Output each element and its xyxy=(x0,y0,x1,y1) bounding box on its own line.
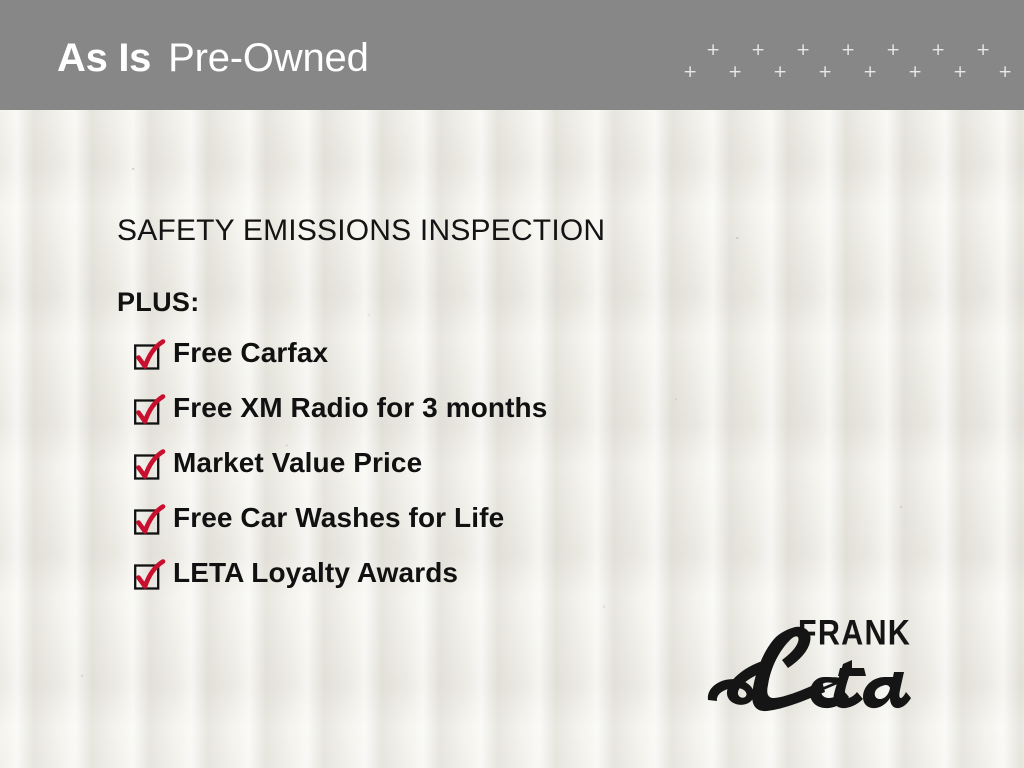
plus-heading: PLUS: xyxy=(117,287,200,318)
plus-icon: + xyxy=(728,64,742,81)
plus-icon: + xyxy=(976,42,990,59)
headline-text: SAFETY EMISSIONS INSPECTION xyxy=(117,214,605,248)
check-list-item-label: LETA Loyalty Awards xyxy=(173,558,458,588)
check-list-item-label: Free XM Radio for 3 months xyxy=(173,393,547,423)
plus-icon: + xyxy=(863,64,877,81)
checked-checkbox-icon xyxy=(134,396,164,426)
plus-icon: + xyxy=(796,42,810,59)
logo-frank-text: FRANK xyxy=(798,614,911,654)
plus-icon: + xyxy=(886,42,900,59)
slide-canvas: As IsPre-Owned +++++++++++++++ SAFETY EM… xyxy=(0,0,1024,768)
checked-checkbox-icon xyxy=(134,506,164,536)
check-list-item-label: Free Carfax xyxy=(173,338,328,368)
frank-leta-logo: FRANK xyxy=(700,608,915,718)
plus-icon: + xyxy=(751,42,765,59)
checked-checkbox-icon xyxy=(134,451,164,481)
checked-checkbox-icon xyxy=(134,341,164,371)
check-list-item: Market Value Price xyxy=(134,451,734,506)
slide-title-light: Pre-Owned xyxy=(168,36,369,80)
slide-title-bold: As Is xyxy=(57,36,151,80)
plus-icon: + xyxy=(953,64,967,81)
plus-icon: + xyxy=(706,42,720,59)
check-list-item: Free Car Washes for Life xyxy=(134,506,734,561)
plus-icon: + xyxy=(931,42,945,59)
check-list-item-label: Market Value Price xyxy=(173,448,422,478)
check-list-item: LETA Loyalty Awards xyxy=(134,561,734,616)
plus-icon: + xyxy=(818,64,832,81)
plus-icon: + xyxy=(683,64,697,81)
plus-icon: + xyxy=(908,64,922,81)
check-list-item: Free Carfax xyxy=(134,341,734,396)
plus-icon: + xyxy=(773,64,787,81)
plus-marks-pattern: +++++++++++++++ xyxy=(672,42,1012,90)
plus-icon: + xyxy=(841,42,855,59)
benefits-check-list: Free CarfaxFree XM Radio for 3 monthsMar… xyxy=(134,341,734,616)
checked-checkbox-icon xyxy=(134,561,164,591)
check-list-item-label: Free Car Washes for Life xyxy=(173,503,504,533)
header-bar: As IsPre-Owned +++++++++++++++ xyxy=(0,0,1024,110)
check-list-item: Free XM Radio for 3 months xyxy=(134,396,734,451)
slide-title: As IsPre-Owned xyxy=(57,38,369,78)
plus-icon: + xyxy=(998,64,1012,81)
